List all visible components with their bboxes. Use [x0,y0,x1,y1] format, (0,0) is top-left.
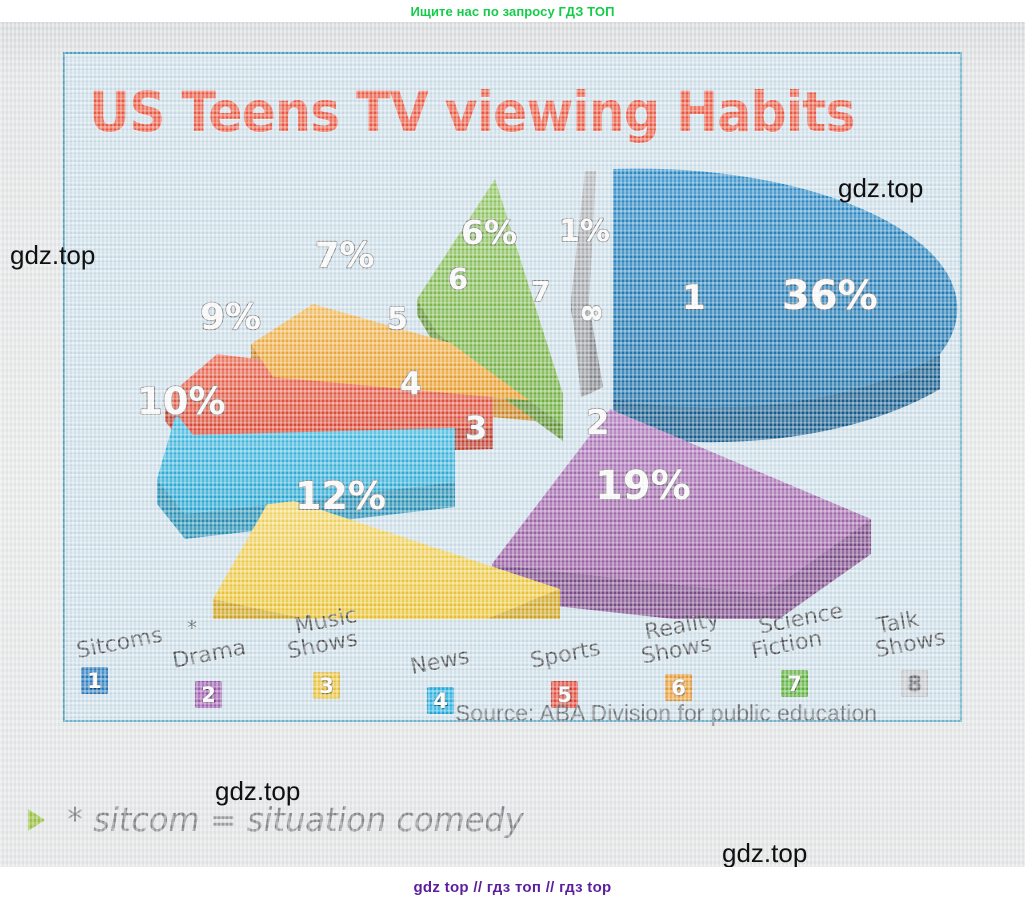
pie-label-6-index: 6 [448,262,468,296]
site-footer-text: gdz top // гдз топ // гдз top [413,879,611,896]
chart-title: US Teens TV viewing Habits [89,80,855,144]
watermark-left: gdz.top [10,240,95,271]
legend-label-2: Drama [171,636,248,673]
pie-label-2-percent: 19% [595,463,691,509]
pie-label-3-index: 3 [465,409,487,447]
pie-label-8-index: 8 [575,304,605,322]
legend-item-1[interactable]: Sitcoms * 1 [79,640,166,694]
legend-star-1: * [187,618,197,639]
pie-label-1-percent: 36% [782,273,878,319]
pie-label-5-index: 5 [387,302,408,337]
pie-label-2-index: 2 [586,403,610,443]
legend-chip-2: 2 [195,681,222,708]
legend-label-5: Sports [529,637,603,673]
pie-chart: 1 36% 2 19% 3 12% 4 10% 5 9% 6 7% 7 6% 8… [65,149,962,619]
pie-label-3-percent: 12% [295,474,386,518]
scanned-page: US Teens TV viewing Habits [0,22,1025,867]
legend-item-6[interactable]: Reality Shows 6 [643,622,718,701]
pie-label-5-percent: 9% [200,297,261,338]
legend-label-1: Sitcoms [75,624,165,663]
legend-label-4: News [409,645,472,679]
legend-item-7[interactable]: Science Fiction 7 [757,616,842,697]
legend-chip-8: 8 [901,670,928,697]
chart-source: Source: ABA Division for public educatio… [455,700,877,727]
triangle-right-icon [28,809,45,831]
legend-chip-4: 4 [427,687,454,714]
legend-chip-3: 3 [313,672,340,699]
watermark-bottom-right: gdz.top [722,838,807,869]
legend-item-8[interactable]: Talk Shows 8 [875,616,940,697]
pie-label-6-percent: 7% [315,236,374,276]
pie-label-7-percent: 6% [461,213,517,252]
legend-item-3[interactable]: Music Shows 3 [293,616,356,699]
promo-banner: Ищите нас по запросу ГДЗ ТОП [0,0,1025,22]
pie-label-8-percent: 1% [559,214,610,249]
chart-panel: US Teens TV viewing Habits [63,52,962,722]
site-footer: gdz top // гдз топ // гдз top [0,867,1025,903]
pie-label-7-index: 7 [531,275,550,308]
pie-label-4-percent: 10% [137,380,226,423]
legend-chip-6: 6 [665,674,692,701]
watermark-top-right: gdz.top [838,173,923,204]
pie-label-1-index: 1 [682,278,706,318]
chart-legend: Sitcoms * 1 Drama 2 Music Shows 3 News 4 [65,602,962,712]
promo-banner-text: Ищите нас по запросу ГДЗ ТОП [410,4,614,19]
pie-label-4-index: 4 [400,366,422,402]
legend-item-2[interactable]: Drama 2 [175,650,249,708]
legend-chip-7: 7 [781,670,808,697]
watermark-middle: gdz.top [215,776,300,807]
legend-chip-1: 1 [81,667,108,694]
